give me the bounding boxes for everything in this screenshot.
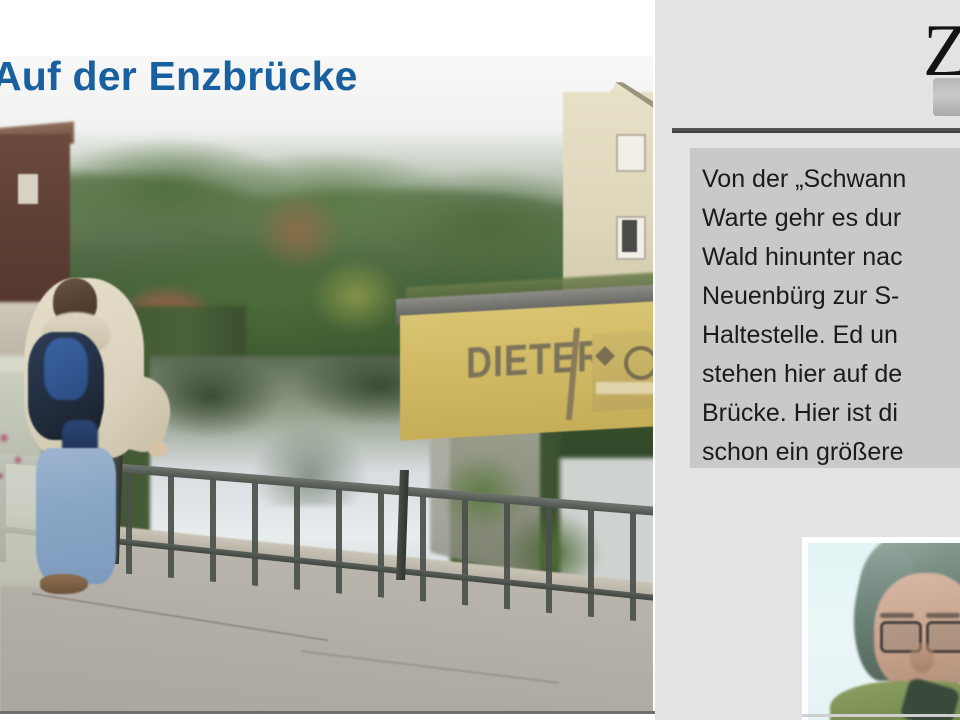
slide-viewer: DIETER — [0, 0, 960, 720]
speaker-eyebrow-left — [880, 613, 914, 618]
bridge-over-enz-river-photo: DIETER — [0, 56, 653, 711]
slide-photo-area: DIETER — [0, 0, 655, 714]
panel-divider — [672, 128, 960, 133]
photo-sign-subtext — [596, 382, 653, 394]
description-line: schon ein größere — [702, 433, 960, 468]
photo-left-house-window — [18, 174, 38, 204]
description-text: Von der „Schwann Warte gehr es dur Wald … — [702, 160, 960, 468]
description-line: Neuenbürg zur S- — [702, 277, 960, 316]
photo-person-hand — [148, 441, 168, 457]
photo-person-jeans — [36, 448, 116, 584]
info-panel: Z Von der „Schwann Warte gehr es dur Wal… — [655, 0, 960, 720]
description-line: Haltestelle. Ed un — [702, 316, 960, 355]
photo-right-house-window-pane — [622, 220, 637, 252]
speaker-video-frame — [808, 543, 960, 720]
speaker-video-thumbnail[interactable] — [802, 537, 960, 720]
description-line: Brücke. Hier ist di — [702, 394, 960, 433]
speaker-nose — [910, 643, 934, 673]
photo-right-cream-house — [563, 92, 653, 292]
photo-person-shoe — [40, 574, 88, 594]
description-textbox: Von der „Schwann Warte gehr es dur Wald … — [690, 148, 960, 468]
speaker-eyebrow-right — [926, 613, 960, 618]
description-line: Warte gehr es dur — [702, 199, 960, 238]
photo-bottom-border — [0, 711, 655, 714]
photo-backpack-blue-panel — [44, 338, 88, 400]
description-line: Wald hinunter nac — [702, 238, 960, 277]
photo-right-house-window-upper — [616, 134, 646, 172]
description-line: Von der „Schwann — [702, 160, 960, 199]
photo-dieter-wall-sign: DIETER — [466, 330, 604, 389]
video-thumbnail-bottom-border — [802, 714, 960, 717]
description-line: stehen hier auf de — [702, 355, 960, 394]
photo-yellow-tree-cluster — [296, 246, 416, 346]
brand-letter: Z — [923, 14, 960, 88]
slide-title: Auf der Enzbrücke — [0, 52, 358, 100]
photo-sign-ring-mark — [624, 346, 653, 380]
brand-logo-box — [933, 78, 960, 116]
